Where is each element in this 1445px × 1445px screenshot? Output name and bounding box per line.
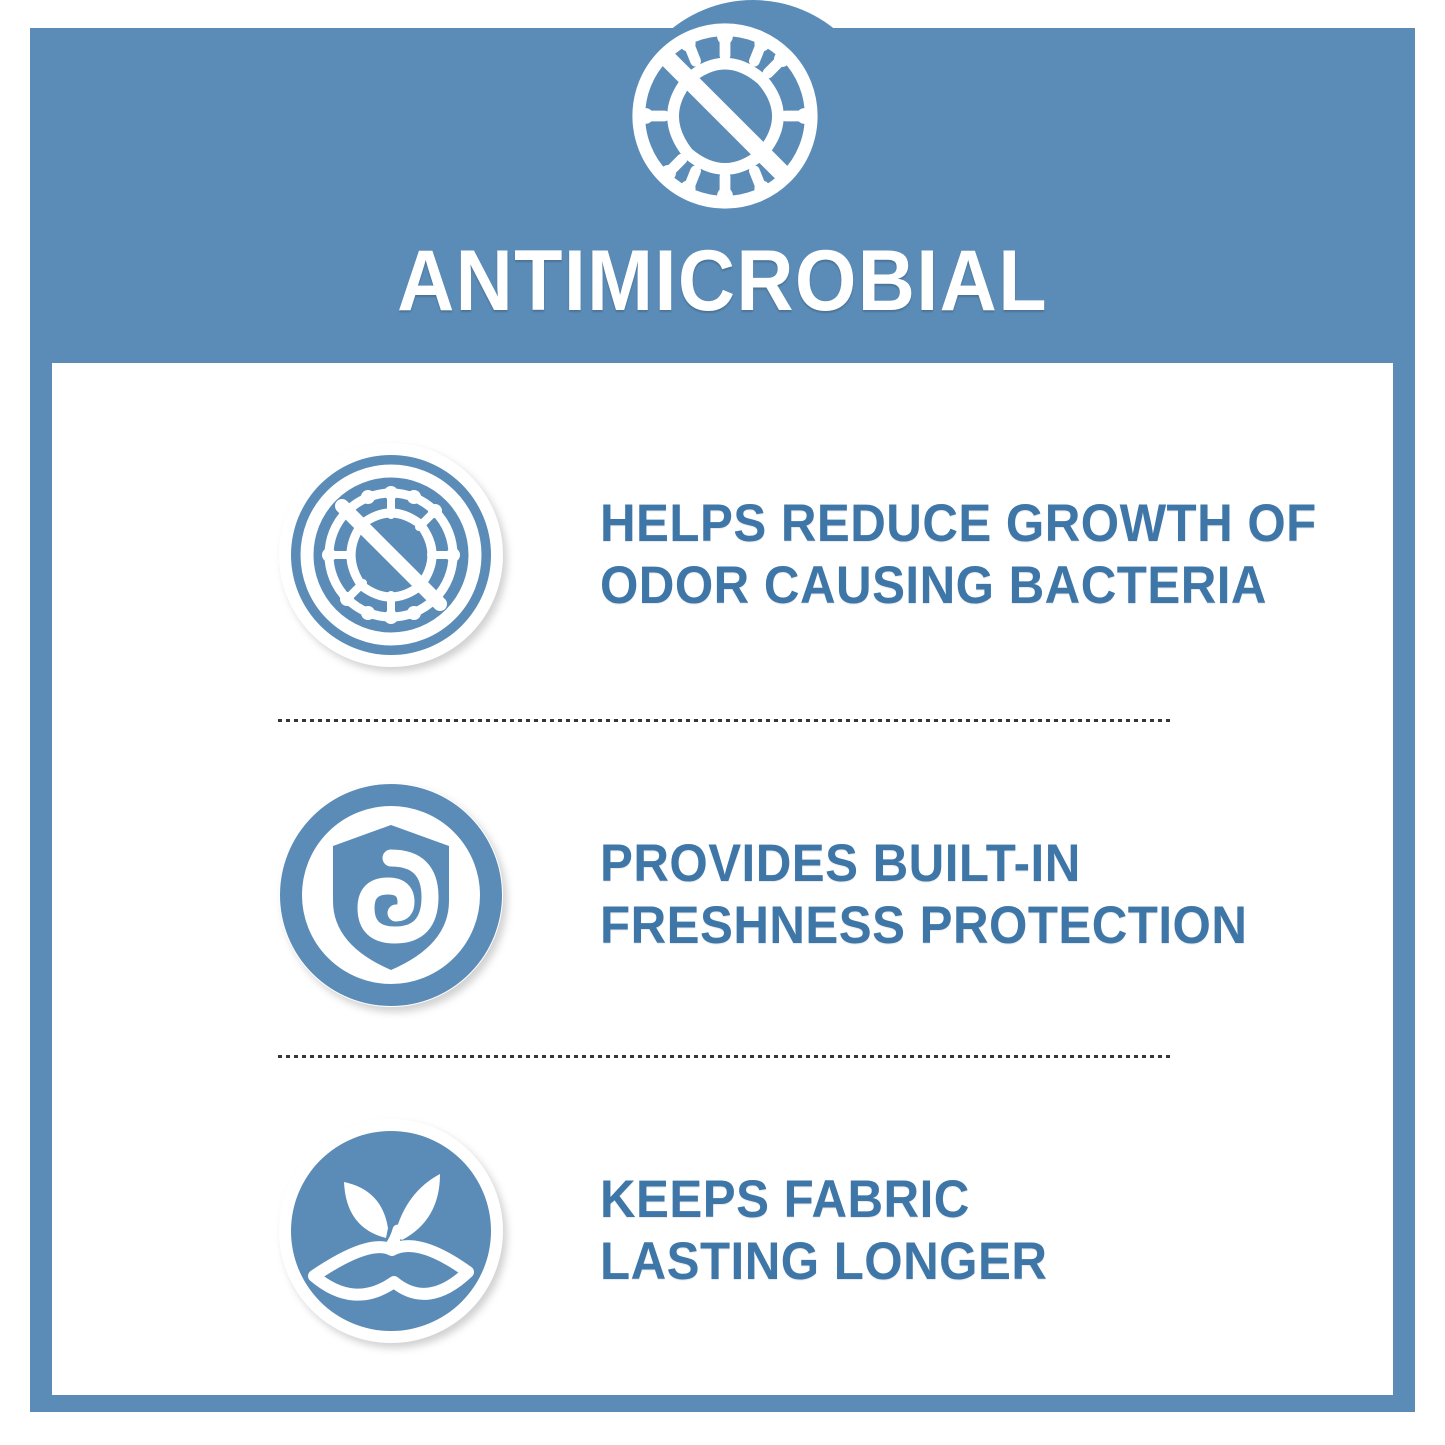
feature-label: KEEPS FABRIC LASTING LONGER <box>600 1169 1047 1293</box>
divider <box>278 719 1172 722</box>
shield-swirl-icon <box>278 780 508 1010</box>
feature-label-line-1: HELPS REDUCE GROWTH OF <box>600 493 1317 555</box>
feature-label: PROVIDES BUILT-IN FRESHNESS PROTECTION <box>600 833 1247 957</box>
antimicrobial-infographic: ANTIMICROBIAL <box>0 0 1445 1445</box>
feature-label-line-2: FRESHNESS PROTECTION <box>600 895 1247 957</box>
no-germ-icon <box>278 440 508 670</box>
divider <box>278 1055 1172 1058</box>
feature-label-line-2: ODOR CAUSING BACTERIA <box>600 555 1317 617</box>
feature-label: HELPS REDUCE GROWTH OF ODOR CAUSING BACT… <box>600 493 1317 617</box>
feature-label-line-2: LASTING LONGER <box>600 1231 1047 1293</box>
feature-label-line-1: PROVIDES BUILT-IN <box>600 833 1247 895</box>
feature-list: HELPS REDUCE GROWTH OF ODOR CAUSING BACT… <box>52 363 1393 1395</box>
feature-label-line-1: KEEPS FABRIC <box>600 1169 1047 1231</box>
page-title: ANTIMICROBIAL <box>58 233 1387 329</box>
list-item: HELPS REDUCE GROWTH OF ODOR CAUSING BACT… <box>52 405 1393 705</box>
no-germ-icon <box>627 18 823 214</box>
list-item: PROVIDES BUILT-IN FRESHNESS PROTECTION <box>52 745 1393 1045</box>
list-item: KEEPS FABRIC LASTING LONGER <box>52 1081 1393 1381</box>
leaf-sprout-icon <box>278 1116 508 1346</box>
